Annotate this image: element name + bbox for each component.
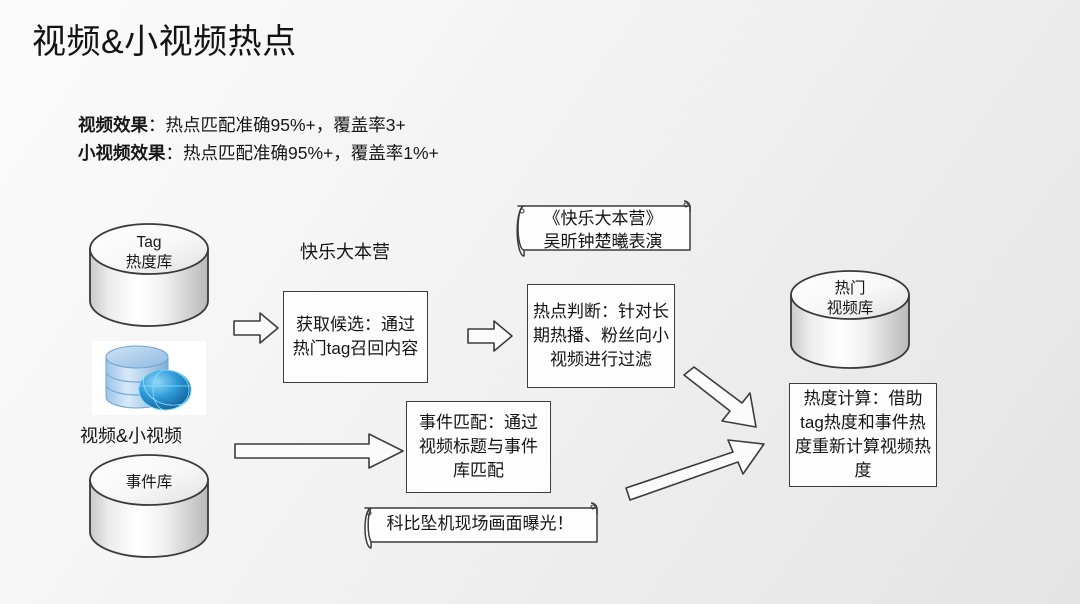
cylinder-tag-heat-db: Tag 热度库 [88,222,210,328]
block-arrow-right-icon [232,310,280,346]
slide-canvas: 视频&小视频热点 视频效果：热点匹配准确95%+，覆盖率3+ 小视频效果：热点匹… [0,0,1080,604]
process-box-event-match: 事件匹配：通过视频标题与事件库匹配 [406,401,551,493]
page-title: 视频&小视频热点 [32,18,297,66]
database-globe-icon-svg [92,341,206,415]
scroll-banner-kobe: 科比坠机现场画面曝光！ [355,502,605,556]
bullet-rest-small-video: ：热点匹配准确95%+，覆盖率1%+ [166,143,439,163]
scroll-shape-svg [508,198,698,264]
cylinder-event-db: 事件库 [88,453,210,559]
arrow-video-to-event-match [233,428,405,472]
bullet-line-video: 视频效果：热点匹配准确95%+，覆盖率3+ [78,112,406,138]
process-box-get-candidates: 获取候选：通过热门tag召回内容 [283,291,428,383]
scroll-banner-happy-camp: 《快乐大本营》 吴昕钟楚曦表演 [508,198,698,264]
bullet-line-small-video: 小视频效果：热点匹配准确95%+，覆盖率1%+ [78,140,439,166]
cylinder-shape [88,453,210,559]
label-happy-camp: 快乐大本营 [300,240,390,264]
bullet-lead-video: 视频效果 [78,115,148,135]
block-arrow-right-long-icon [233,428,405,472]
label-video-and-small-video: 视频&小视频 [80,424,182,448]
cylinder-hot-video-db: 热门 视频库 [789,270,911,370]
cylinder-shape [789,270,911,370]
arrow-tag-to-candidates [232,310,280,346]
database-globe-icon [92,341,206,415]
scroll-shape-svg [355,502,605,556]
arrow-candidates-to-hotspot [466,318,514,354]
bullet-rest-video: ：热点匹配准确95%+，覆盖率3+ [148,115,406,135]
block-arrow-right-icon [466,318,514,354]
process-box-hotspot-judge: 热点判断：针对长期热播、粉丝向小视频进行过滤 [527,284,675,388]
arrow-event-match-to-heat-compute [622,418,772,504]
block-arrow-diagonal-up-icon [622,418,772,504]
process-box-heat-compute: 热度计算：借助tag热度和事件热度重新计算视频热度 [789,383,937,487]
bullet-lead-small-video: 小视频效果 [78,143,166,163]
cylinder-shape [88,222,210,328]
